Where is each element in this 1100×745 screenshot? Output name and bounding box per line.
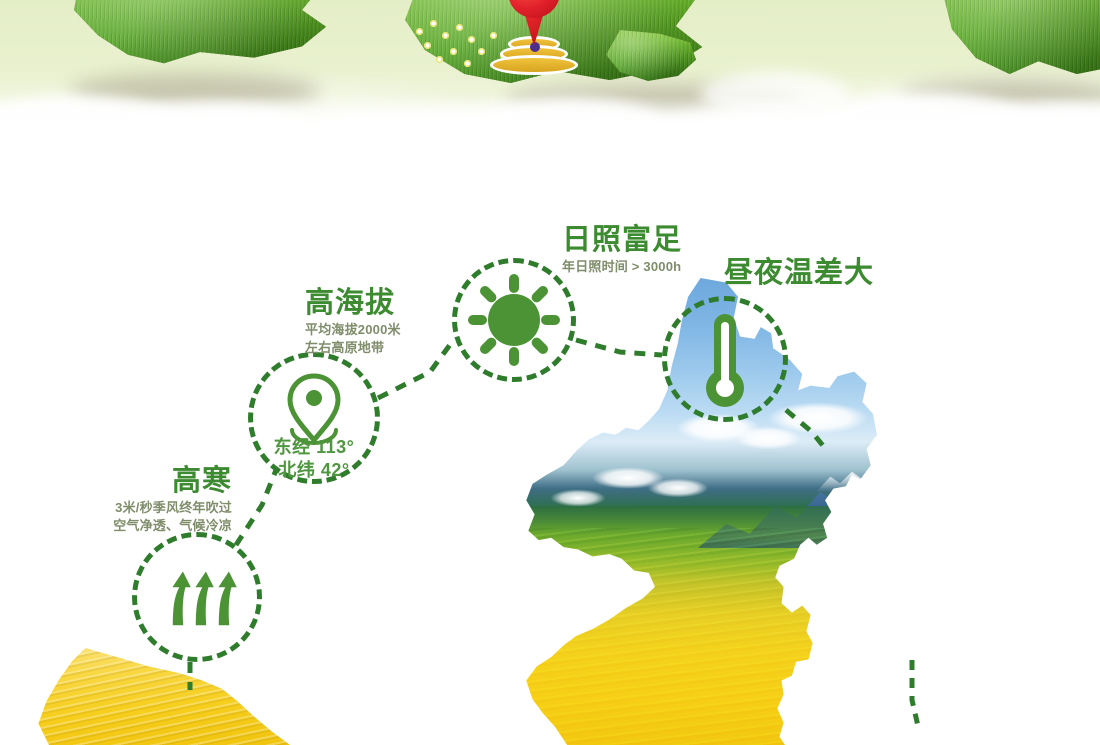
cold-subtitle: 3米/秒季风终年吹过 空气净透、气候冷凉 — [110, 499, 232, 533]
temperature-title: 昼夜温差大 — [724, 258, 874, 288]
map-inner-border — [912, 660, 918, 726]
sunshine-subtitle-line: 年日照时间 > 3000h — [562, 258, 682, 275]
cold-label: 高寒 3米/秒季风终年吹过 空气净透、气候冷凉 — [110, 466, 232, 534]
altitude-subtitle-line: 左右高原地带 — [305, 339, 401, 356]
infographic-page: 日照富足 年日照时间 > 3000h 东经 113° 北纬 42° 高海拔 平均… — [0, 0, 1100, 745]
altitude-title: 高海拔 — [305, 288, 401, 318]
thermometer-icon — [662, 296, 788, 422]
connector-sunshine-to-temperature — [576, 340, 662, 355]
coordinate-latitude: 北纬 42° — [248, 459, 380, 482]
altitude-subtitle-line: 平均海拔2000米 — [305, 321, 401, 338]
temperature-label: 昼夜温差大 — [724, 258, 874, 288]
sunshine-title: 日照富足 — [562, 225, 682, 255]
cold-subtitle-line: 空气净透、气候冷凉 — [110, 517, 232, 534]
node-altitude[interactable]: 东经 113° 北纬 42° — [248, 352, 380, 484]
sun-icon — [452, 258, 576, 382]
sunshine-subtitle: 年日照时间 > 3000h — [562, 258, 682, 275]
node-cold[interactable] — [132, 532, 262, 662]
cold-subtitle-line: 3米/秒季风终年吹过 — [110, 499, 232, 516]
connector-temperature-to-map — [786, 410, 828, 452]
location-pin-icon — [248, 358, 380, 448]
node-temperature-range[interactable] — [662, 296, 788, 422]
wind-arrows-icon — [132, 532, 262, 662]
coordinate-longitude: 东经 113° — [248, 436, 380, 459]
cold-title: 高寒 — [110, 466, 232, 496]
altitude-subtitle: 平均海拔2000米 左右高原地带 — [305, 321, 401, 355]
altitude-coordinates: 东经 113° 北纬 42° — [248, 436, 380, 483]
node-sunshine[interactable] — [452, 258, 576, 382]
altitude-label: 高海拔 平均海拔2000米 左右高原地带 — [305, 288, 401, 356]
sunshine-label: 日照富足 年日照时间 > 3000h — [562, 225, 682, 276]
